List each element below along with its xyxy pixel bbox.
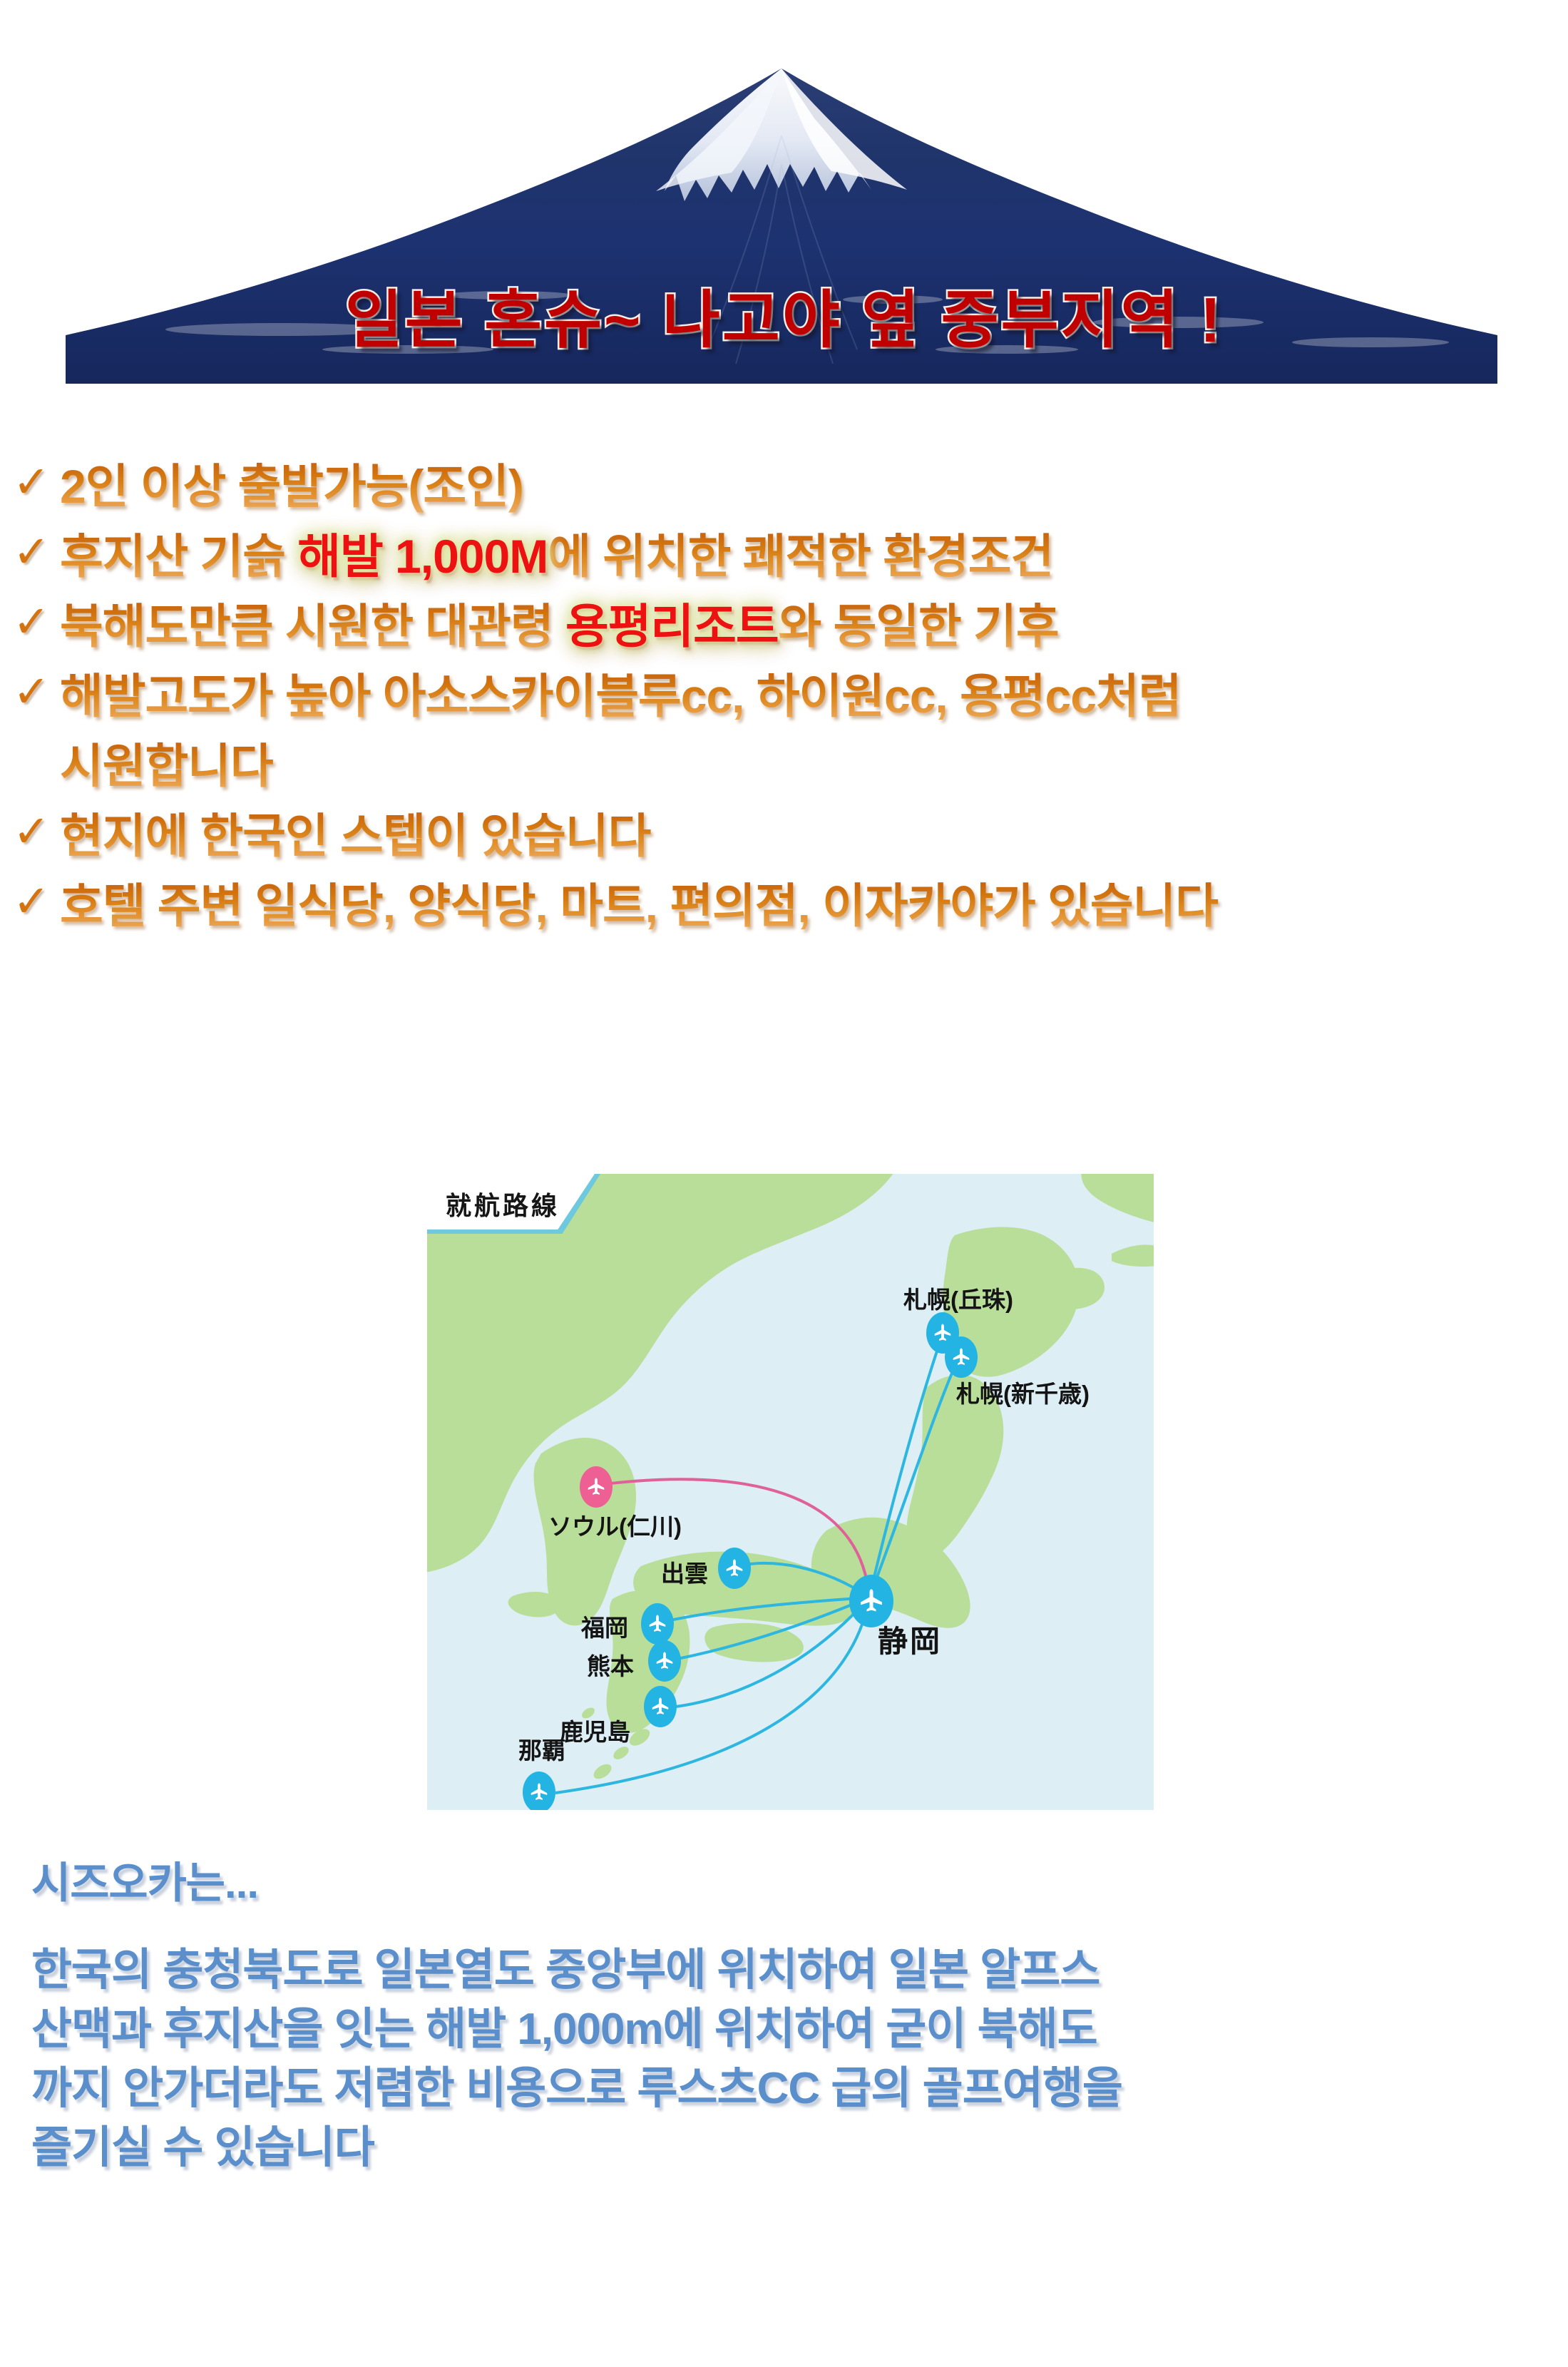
city-label-kagoshima: 鹿児島 — [560, 1713, 630, 1747]
list-item: ✓ 호텔 주변 일식당, 양식당, 마트, 편의점, 이자카야가 있습니다 — [13, 876, 1553, 937]
highlight-text: 용평리조트 — [565, 600, 779, 653]
bullet-text: 호텔 주변 일식당, 양식당, 마트, 편의점, 이자카야가 있습니다 — [60, 876, 1553, 936]
airplane-icon — [650, 1696, 671, 1717]
airport-pin-kumamoto[interactable] — [648, 1640, 681, 1682]
list-item: ✓ 현지에 한국인 스텝이 있습니다 — [13, 806, 1553, 867]
bullet-text: 2인 이상 출발가능(조인) — [60, 456, 1553, 516]
airport-pin-izumo[interactable] — [718, 1548, 751, 1589]
page-title: 일본 혼슈~ 나고야 옆 중부지역 ! — [0, 270, 1568, 360]
description-line: 까지 안가더라도 저렴한 비용으로 루스츠CC 급의 골프여행을 — [31, 2059, 1529, 2118]
airplane-icon — [647, 1613, 668, 1635]
bullet-text: 북해도만큼 시원한 대관령 용평리조트와 동일한 기후 — [60, 596, 1553, 656]
description-line: 즐기실 수 있습니다 — [31, 2118, 1529, 2177]
highlight-text: 해발 1,000M — [297, 530, 548, 583]
map-geography — [427, 1174, 1154, 1810]
city-label-fukuoka: 福岡 — [581, 1609, 628, 1643]
city-label-sapporo-okadama: 札幌(丘珠) — [903, 1281, 1013, 1315]
airport-pin-seoul-incheon[interactable] — [580, 1466, 613, 1508]
bullet-text: 후지산 기슭 해발 1,000M에 위치한 쾌적한 환경조건 — [60, 526, 1553, 586]
city-label-izumo: 出雲 — [661, 1555, 708, 1589]
airport-pin-kagoshima[interactable] — [644, 1686, 677, 1727]
airplane-icon — [857, 1587, 886, 1615]
map-badge-label: 就航路線 — [446, 1185, 560, 1222]
bullet-text: 현지에 한국인 스텝이 있습니다 — [60, 806, 1553, 866]
airport-pin-naha[interactable] — [523, 1772, 555, 1810]
description-heading: 시즈오카는... — [31, 1849, 1529, 1911]
flight-route-map: 就航路線 札幌(丘珠) 札幌(新千歳) ソウル — [427, 1174, 1154, 1810]
list-item: ✓ 해발고도가 높아 아소스카이블루cc, 하이원cc, 용평cc처럼 — [13, 666, 1553, 727]
city-label-kumamoto: 熊本 — [587, 1647, 634, 1682]
airplane-icon — [724, 1558, 745, 1579]
airplane-icon — [528, 1781, 550, 1803]
check-icon: ✓ — [13, 806, 60, 854]
bullet-text-continuation: 시원합니다 — [60, 736, 1553, 796]
check-icon: ✓ — [13, 596, 60, 645]
city-label-shizuoka: 静岡 — [878, 1617, 942, 1661]
description-line: 산맥과 후지산을 잇는 해발 1,000m에 위치하여 굳이 북해도 — [31, 2000, 1529, 2059]
list-item: ✓ 북해도만큼 시원한 대관령 용평리조트와 동일한 기후 — [13, 596, 1553, 658]
bullet-text: 해발고도가 높아 아소스카이블루cc, 하이원cc, 용평cc처럼 — [60, 666, 1553, 726]
airplane-icon — [585, 1476, 607, 1498]
airport-pin-fukuoka[interactable] — [641, 1603, 674, 1645]
airplane-icon — [950, 1346, 972, 1368]
check-icon: ✓ — [13, 666, 60, 715]
hero-banner: 일본 혼슈~ 나고야 옆 중부지역 ! — [0, 0, 1568, 399]
list-item: ✓ 후지산 기슭 해발 1,000M에 위치한 쾌적한 환경조건 — [13, 526, 1553, 588]
list-item-continuation: ✓ 시원합니다 — [13, 736, 1553, 797]
description-block: 시즈오카는... 한국의 충청북도로 일본열도 중앙부에 위치하여 일본 알프스… — [31, 1849, 1529, 2177]
check-icon: ✓ — [13, 526, 60, 575]
city-label-naha: 那覇 — [518, 1732, 565, 1766]
check-icon: ✓ — [13, 456, 60, 505]
check-icon: ✓ — [13, 876, 60, 924]
airplane-icon — [654, 1650, 675, 1672]
city-label-sapporo-shinchitose: 札幌(新千歳) — [956, 1375, 1090, 1409]
feature-bullet-list: ✓ 2인 이상 출발가능(조인) ✓ 후지산 기슭 해발 1,000M에 위치한… — [13, 456, 1553, 946]
description-line: 한국의 충청북도로 일본열도 중앙부에 위치하여 일본 알프스 — [31, 1941, 1529, 2000]
city-label-seoul-incheon: ソウル(仁川) — [548, 1508, 682, 1542]
slide-page: 일본 혼슈~ 나고야 옆 중부지역 ! ✓ 2인 이상 출발가능(조인) ✓ 후… — [0, 0, 1568, 2367]
airport-pin-sapporo-shinchitose[interactable] — [945, 1336, 978, 1378]
list-item: ✓ 2인 이상 출발가능(조인) — [13, 456, 1553, 518]
